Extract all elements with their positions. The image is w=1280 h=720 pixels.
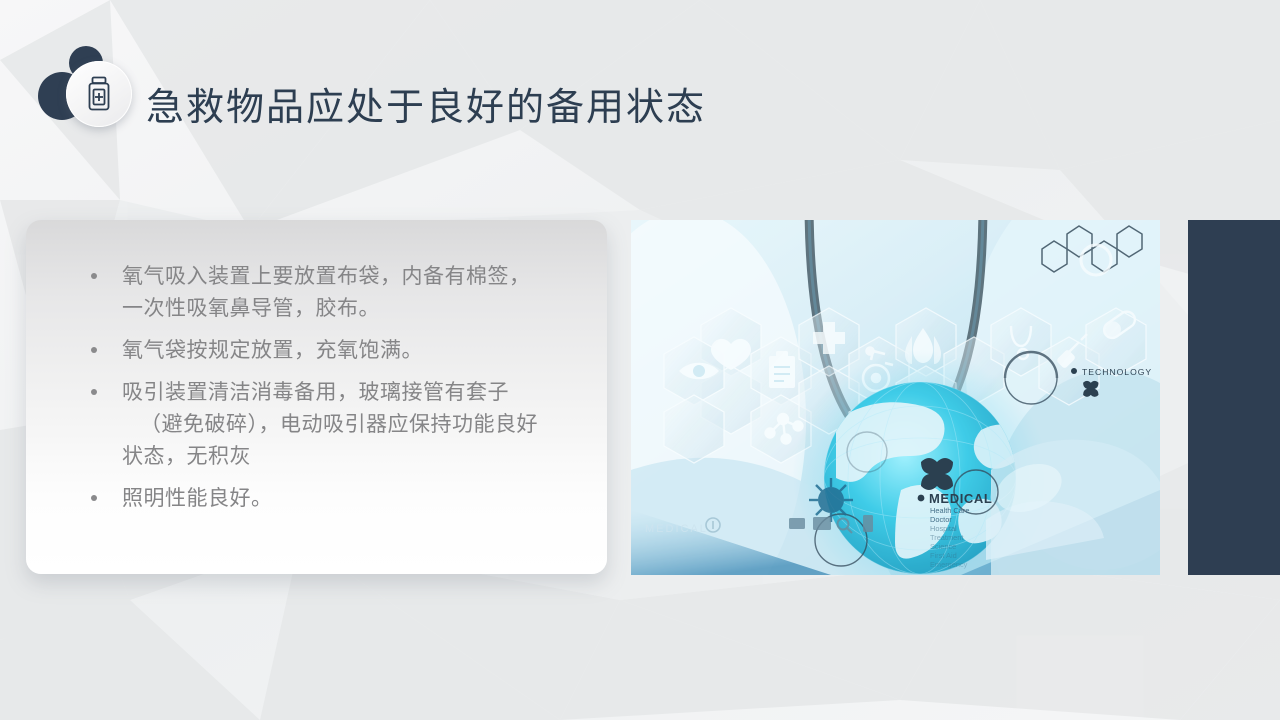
bullet-list: 氧气吸入装置上要放置布袋，内备有棉签， 一次性吸氧鼻导管，胶布。 氧气袋按规定放…	[52, 260, 581, 514]
list-item: 照明性能良好。	[52, 482, 581, 514]
list-item: 氧气袋按规定放置，充氧饱满。	[52, 334, 581, 366]
bullet-line: （避免破碎），电动吸引器应保持功能良好	[122, 408, 581, 440]
accent-side-panel	[1188, 220, 1280, 575]
content-card: 氧气吸入装置上要放置布袋，内备有棉签， 一次性吸氧鼻导管，胶布。 氧气袋按规定放…	[26, 220, 607, 574]
list-item: 吸引装置清洁消毒备用，玻璃接管有套子 （避免破碎），电动吸引器应保持功能良好 状…	[52, 376, 581, 472]
medical-technology-photo: MEDICAL MEDICAL	[631, 220, 1160, 575]
bullet-line: 吸引装置清洁消毒备用，玻璃接管有套子	[122, 376, 581, 408]
list-item: 氧气吸入装置上要放置布袋，内备有棉签， 一次性吸氧鼻导管，胶布。	[52, 260, 581, 324]
bullet-line: 氧气袋按规定放置，充氧饱满。	[122, 334, 581, 366]
bullet-line: 一次性吸氧鼻导管，胶布。	[122, 292, 581, 324]
medicine-bottle-plus-icon	[66, 61, 132, 127]
bullet-line: 照明性能良好。	[122, 482, 581, 514]
bullet-line: 氧气吸入装置上要放置布袋，内备有棉签，	[122, 260, 581, 292]
title-badge	[38, 44, 142, 128]
page-title: 急救物品应处于良好的备用状态	[146, 85, 706, 131]
slide-header: 急救物品应处于良好的备用状态	[0, 0, 1280, 170]
bullet-line: 状态，无积灰	[122, 440, 581, 472]
slide-canvas: 急救物品应处于良好的备用状态 氧气吸入装置上要放置布袋，内备有棉签， 一次性吸氧…	[0, 0, 1280, 720]
